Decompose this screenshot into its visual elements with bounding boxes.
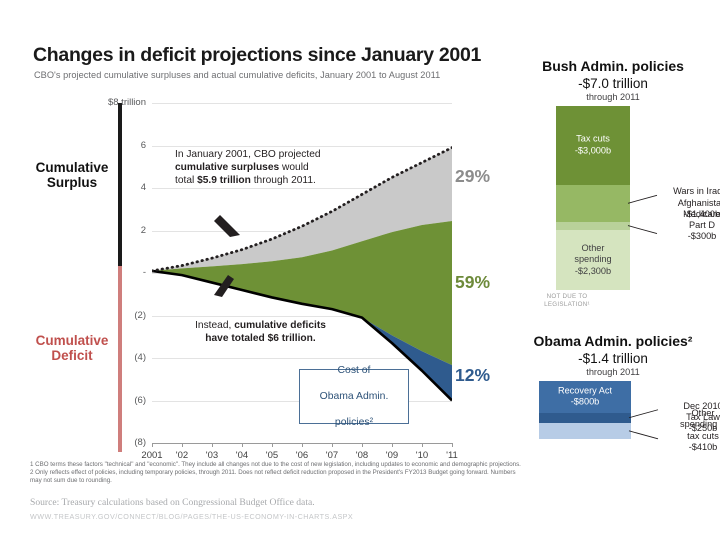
stack-segment-label-line: -$2,300b — [556, 265, 630, 276]
y-axis-tick-label: (4) — [106, 352, 146, 363]
projection-annotation-bold1: cumulative surpluses — [175, 162, 279, 173]
stack-segment-label-line: Recovery Act — [539, 385, 631, 396]
stack-segment — [539, 423, 631, 439]
stack-segment-label: Tax cuts-$3,000b — [556, 134, 630, 157]
stack-segment-label-line: -$800b — [539, 397, 631, 408]
stack-callout-line: tax cuts — [661, 431, 720, 442]
bush-panel-title: Bush Admin. policies — [506, 58, 720, 74]
projection-annotation-line2: cumulative surpluses would — [175, 161, 360, 174]
obama-admin-panel: Obama Admin. policies² -$1.4 trillion th… — [506, 333, 720, 377]
callout-leader-line — [629, 410, 658, 418]
x-axis-tick — [302, 443, 303, 447]
x-axis-tick-label: '05 — [255, 450, 289, 461]
stack-segment-label-line: spending — [556, 254, 630, 265]
y-axis-tick-label: (6) — [106, 395, 146, 406]
cumulative-surplus-label: Cumulative Surplus — [26, 160, 118, 190]
x-axis-tick — [452, 443, 453, 447]
x-axis-tick — [362, 443, 363, 447]
y-axis-tick-label: 2 — [106, 225, 146, 236]
footnote-2: 2 Only reflects effect of policies, incl… — [30, 469, 690, 477]
not-due-to-legislation-label: NOT DUE TO LEGISLATION¹ — [536, 293, 598, 309]
x-axis-tick-label: '11 — [435, 450, 469, 461]
x-axis-tick-label: '04 — [225, 450, 259, 461]
stack-callout-line: Afghanistan — [660, 198, 720, 209]
x-axis-tick-label: '10 — [405, 450, 439, 461]
obama-callout-line2: Obama Admin. — [320, 390, 389, 403]
source-text: Source: Treasury calculations based on C… — [30, 497, 500, 508]
bush-panel-amount: -$7.0 trillion — [506, 76, 720, 91]
stack-segment — [556, 185, 630, 222]
callout-leader-line — [629, 431, 658, 439]
bush-stacked-bar: Tax cuts-$3,000bOtherspending-$2,300b — [556, 106, 630, 290]
stack-callout-line: -$300b — [660, 231, 720, 242]
footnote-1: 1 CBO terms these factors "technical" an… — [30, 461, 690, 469]
stack-segment-label: Otherspending-$2,300b — [556, 243, 630, 277]
projection-annotation-line1: In January 2001, CBO projected — [175, 148, 360, 161]
x-axis-tick — [152, 443, 153, 447]
projection-annotation-tail1: would — [279, 162, 308, 173]
pct-not-due-to-legislation: 29% — [455, 166, 490, 187]
x-axis-tick — [242, 443, 243, 447]
stack-callout-line: Wars in Iraq & — [660, 186, 720, 197]
obama-callout-line1: Cost of — [320, 364, 389, 377]
x-axis-tick-label: '08 — [345, 450, 379, 461]
stack-segment: Recovery Act-$800b — [539, 381, 631, 413]
stack-callout-line: spending & — [661, 419, 720, 430]
obama-panel-amount: -$1.4 trillion — [506, 351, 720, 366]
bush-admin-panel: Bush Admin. policies -$7.0 trillion thro… — [506, 58, 720, 102]
stack-segment-label: Recovery Act-$800b — [539, 385, 631, 408]
deficit-annotation-bold: cumulative deficits — [234, 320, 326, 331]
not-due-line2: LEGISLATION¹ — [536, 301, 598, 309]
stack-segment-label-line: -$3,000b — [556, 145, 630, 156]
infographic-root: Changes in deficit projections since Jan… — [0, 0, 720, 540]
obama-stacked-bar: Recovery Act-$800b — [539, 381, 631, 439]
obama-callout-text: Cost of Obama Admin. policies² — [320, 364, 389, 429]
stack-segment: Tax cuts-$3,000b — [556, 106, 630, 185]
x-axis-tick-label: '07 — [315, 450, 349, 461]
cumulative-deficit-line2: Deficit — [26, 348, 118, 363]
deficit-annotation-line2: have totaled $6 trillion. — [168, 332, 353, 345]
stack-segment: Otherspending-$2,300b — [556, 230, 630, 290]
obama-callout-line3: policies² — [320, 416, 389, 429]
y-axis-tick-label: 6 — [106, 140, 146, 151]
x-axis-tick — [182, 443, 183, 447]
y-axis-tick-label: $8 trillion — [26, 97, 146, 108]
callout-leader-line — [628, 195, 657, 203]
stack-segment-label-line: Tax cuts — [556, 134, 630, 145]
stack-callout-line: Other — [661, 408, 720, 419]
stack-segment-callout: MedicarePart D-$300b — [660, 209, 720, 243]
cumulative-surplus-line2: Surplus — [26, 175, 118, 190]
stack-callout-line: Part D — [660, 220, 720, 231]
page-subtitle: CBO's projected cumulative surpluses and… — [34, 70, 504, 80]
projection-annotation-line3: total $5.9 trillion through 2011. — [175, 174, 360, 187]
callout-leader-line — [628, 226, 657, 234]
stack-segment — [539, 413, 631, 423]
obama-panel-title: Obama Admin. policies² — [506, 333, 720, 349]
x-axis-tick — [212, 443, 213, 447]
x-axis-tick-label: '09 — [375, 450, 409, 461]
cumulative-deficit-line1: Cumulative — [26, 333, 118, 348]
deficit-annotation-line1: Instead, cumulative deficits — [168, 319, 353, 332]
source-url[interactable]: WWW.TREASURY.GOV/CONNECT/BLOG/PAGES/THE-… — [30, 512, 500, 521]
obama-policies-callout-box: Cost of Obama Admin. policies² — [299, 369, 409, 424]
stack-segment-callout: Otherspending &tax cuts-$410b — [661, 408, 720, 454]
not-due-line1: NOT DUE TO — [536, 293, 598, 301]
y-axis-tick-label: - — [106, 267, 146, 278]
projection-annotation-tail2: through 2011. — [251, 175, 316, 186]
pct-bush-policies: 59% — [455, 272, 490, 293]
source-block: Source: Treasury calculations based on C… — [30, 497, 500, 521]
deficit-annotation-bold2: have totaled $6 trillion. — [205, 333, 315, 344]
x-axis-tick — [392, 443, 393, 447]
stack-segment — [556, 222, 630, 230]
cumulative-deficit-label: Cumulative Deficit — [26, 333, 118, 363]
deficit-annotation-lead: Instead, — [195, 320, 234, 331]
cumulative-surplus-line1: Cumulative — [26, 160, 118, 175]
obama-panel-through: through 2011 — [506, 367, 720, 377]
footnote-3: may not sum due to rounding. — [30, 477, 690, 485]
stack-segment-label-line: Other — [556, 243, 630, 254]
pct-obama-policies: 12% — [455, 365, 490, 386]
x-axis-tick-label: '02 — [165, 450, 199, 461]
projection-annotation-arrow — [214, 215, 240, 237]
bush-panel-through: through 2011 — [506, 92, 720, 102]
x-axis-tick-label: 2001 — [135, 450, 169, 461]
stack-callout-line: -$410b — [661, 442, 720, 453]
projection-annotation-lead: total — [175, 175, 197, 186]
y-axis-tick-label: (2) — [106, 310, 146, 321]
x-axis-tick — [272, 443, 273, 447]
y-axis-tick-label: 4 — [106, 182, 146, 193]
projection-annotation: In January 2001, CBO projected cumulativ… — [175, 148, 360, 188]
stack-callout-line: Medicare — [660, 209, 720, 220]
x-axis-tick — [332, 443, 333, 447]
y-axis-tick-label: (8) — [106, 437, 146, 448]
x-axis-tick — [422, 443, 423, 447]
x-axis-tick-label: '06 — [285, 450, 319, 461]
x-axis-tick-label: '03 — [195, 450, 229, 461]
page-title: Changes in deficit projections since Jan… — [33, 44, 503, 67]
footnotes: 1 CBO terms these factors "technical" an… — [30, 461, 690, 484]
projection-annotation-bold2: $5.9 trillion — [197, 175, 251, 186]
deficit-annotation: Instead, cumulative deficits have totale… — [168, 319, 353, 345]
